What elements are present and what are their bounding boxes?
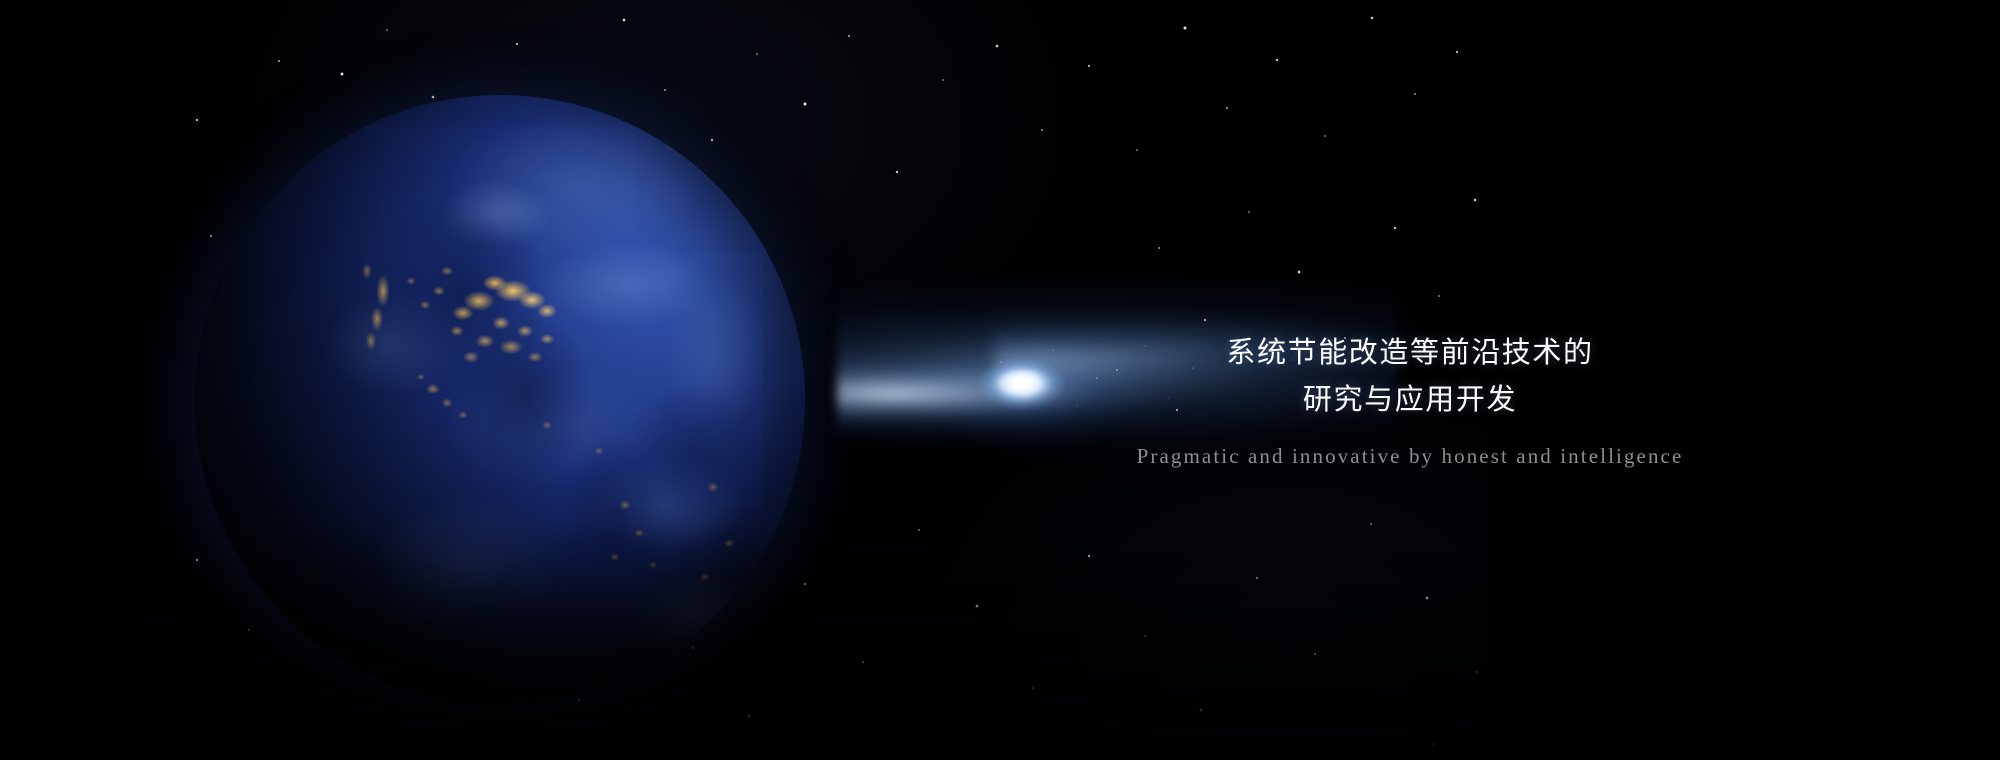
banner-copy: 系统节能改造等前沿技术的 研究与应用开发 Pragmatic and innov… [1020,330,1800,469]
atmosphere-rim [195,95,805,705]
hero-banner: 系统节能改造等前沿技术的 研究与应用开发 Pragmatic and innov… [0,0,2000,760]
headline-line-1: 系统节能改造等前沿技术的 [1020,330,1800,377]
headline-line-2: 研究与应用开发 [1020,377,1800,424]
tagline: Pragmatic and innovative by honest and i… [1020,444,1800,469]
